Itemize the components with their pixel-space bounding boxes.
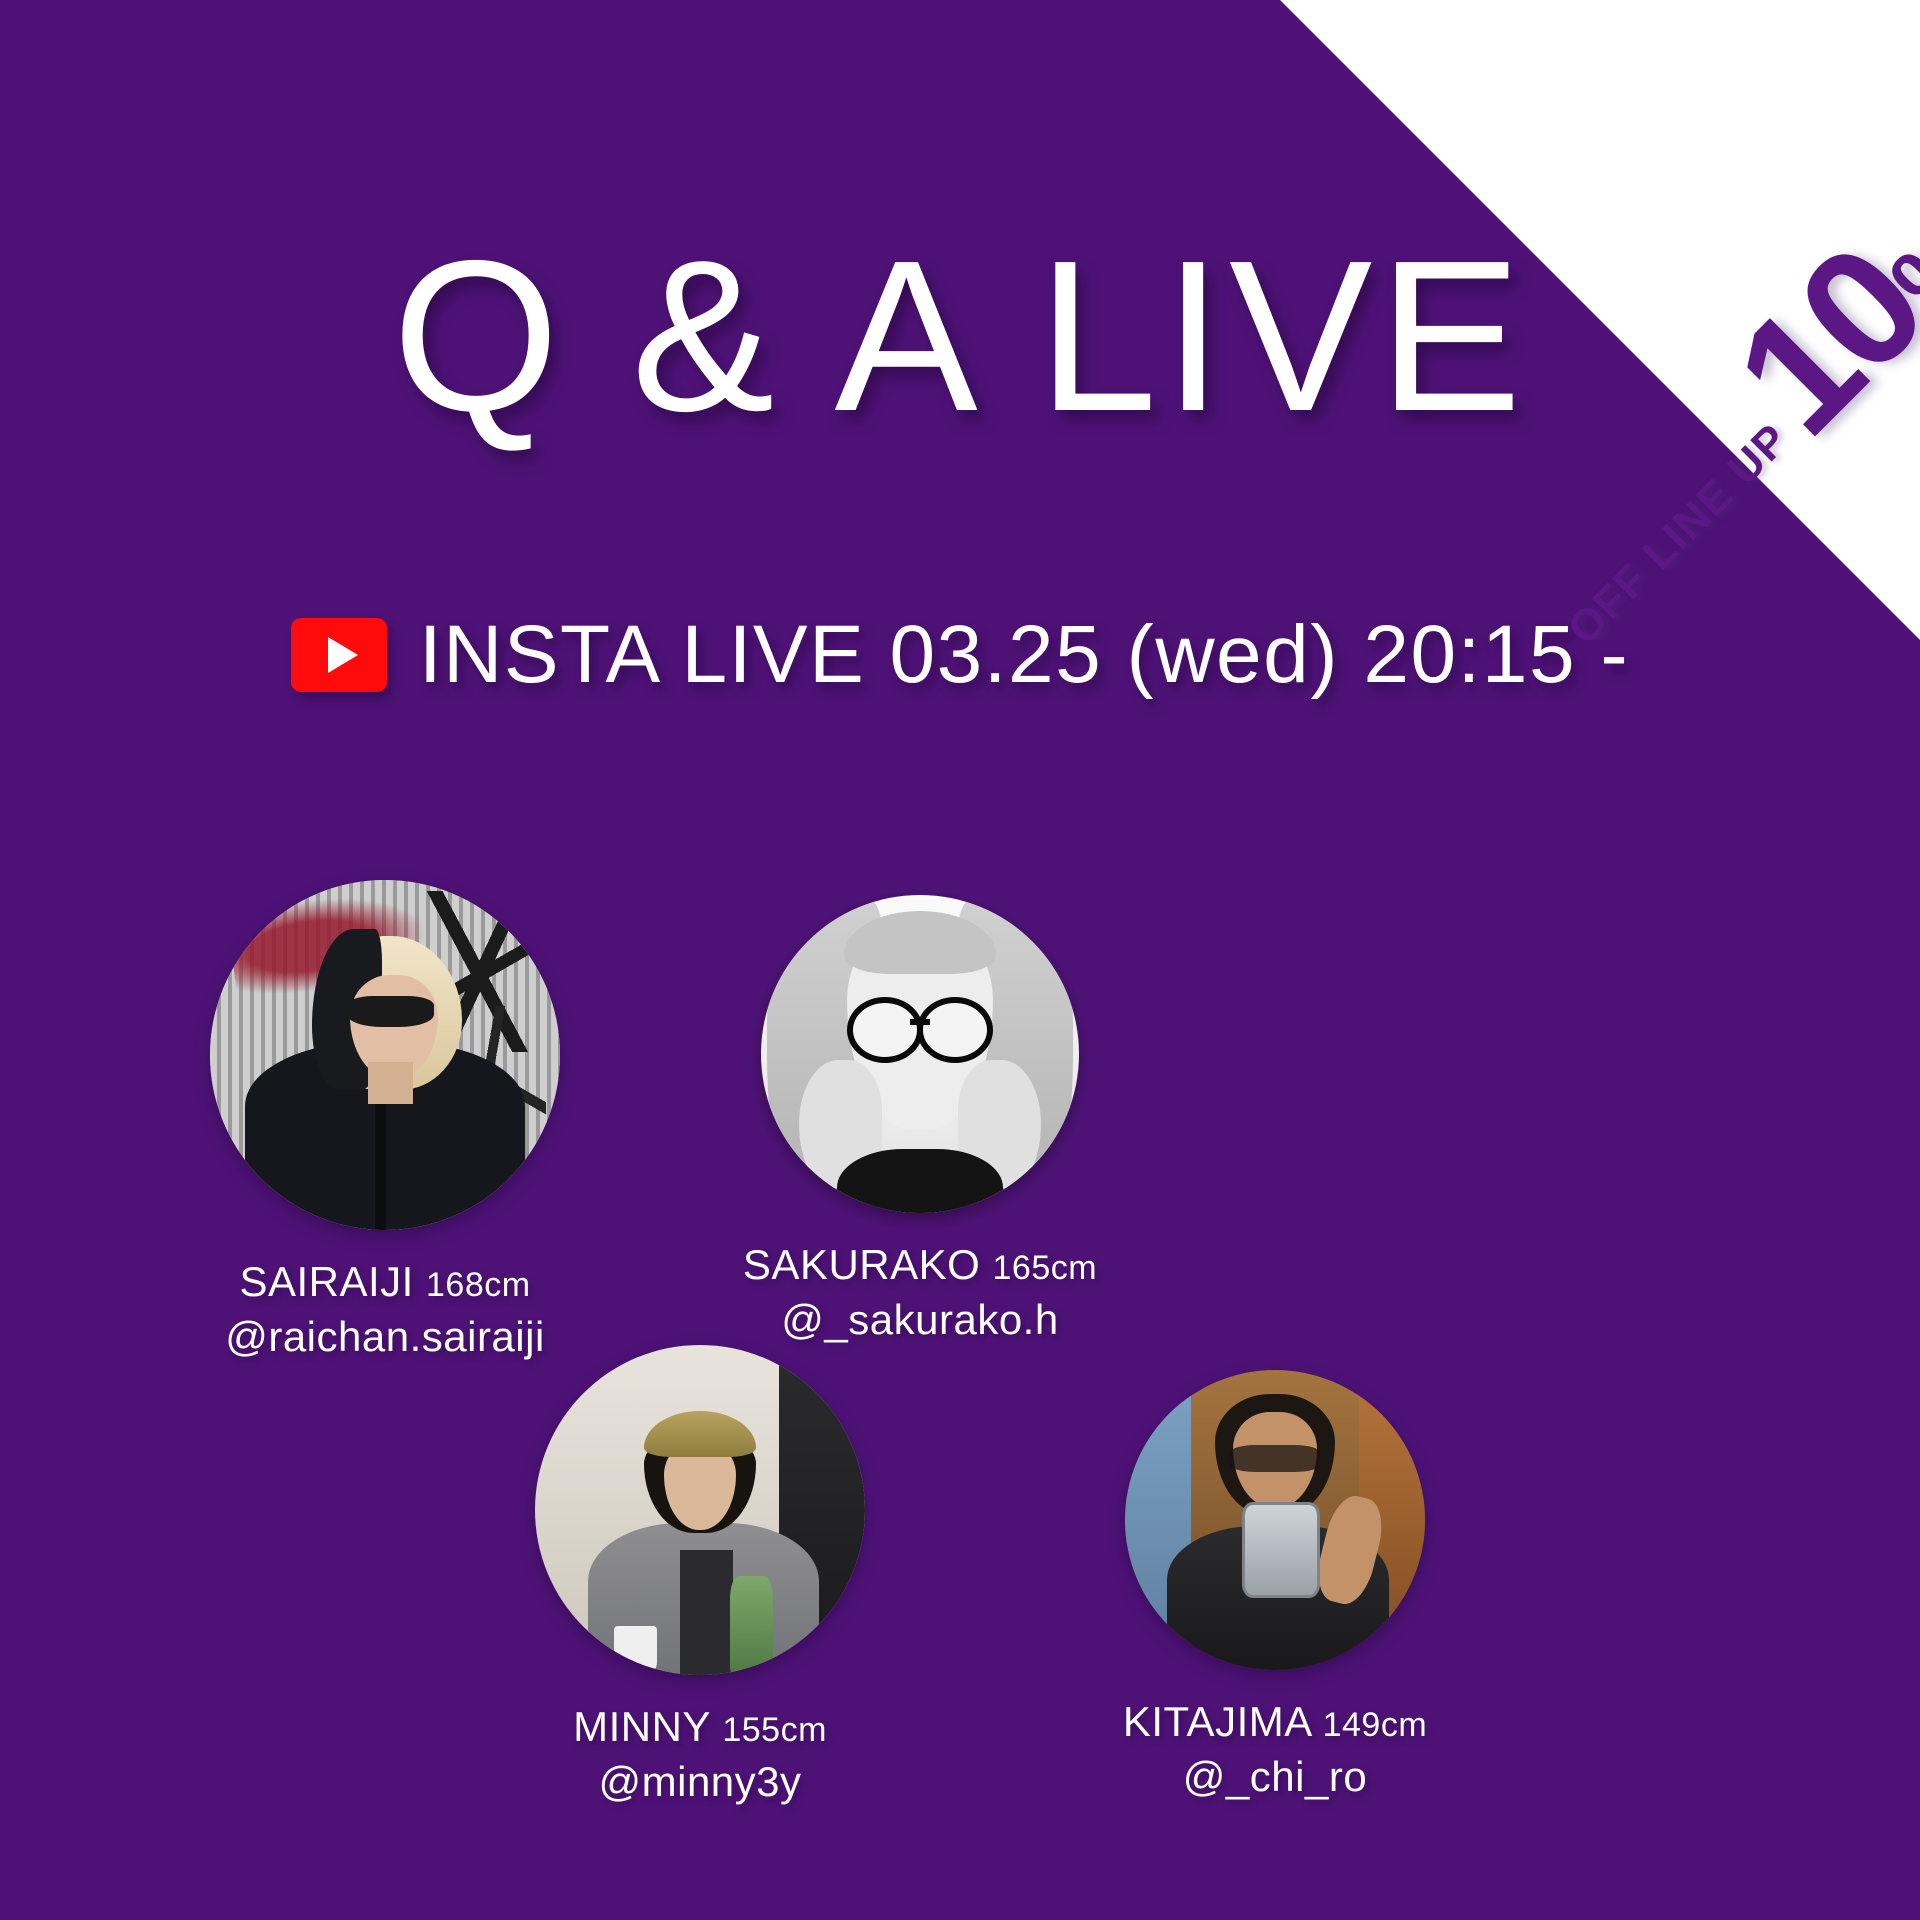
person-name-sakurako: SAKURAKO 165cm [705,1237,1135,1292]
person-name-text: KITAJIMA [1123,1698,1311,1745]
person-name-text: MINNY [573,1703,710,1750]
person-handle-kitajima: @_chi_ro [1060,1749,1490,1804]
person-height-text: 155cm [722,1711,827,1749]
badge-discount-value: 10% [1719,173,1920,452]
person-name-sairaiji: SAIRAIJI 168cm [170,1254,600,1309]
avatar-photo-minny [535,1345,865,1675]
avatar-photo-sairaiji [210,880,560,1230]
discount-corner-badge: OFF LINE UP 10% [1280,0,1920,640]
play-button-icon [291,618,387,692]
poster-canvas: OFF LINE UP 10% Q & A LIVE INSTA LIVE 03… [0,0,1920,1920]
person-height-text: 165cm [993,1249,1098,1287]
avatar-kitajima [1125,1370,1425,1670]
avatar-sakurako [761,895,1079,1213]
person-name-text: SAIRAIJI [239,1258,413,1305]
person-handle-minny: @minny3y [485,1754,915,1809]
person-label-kitajima: KITAJIMA 149cm @_chi_ro [1060,1694,1490,1805]
avatar-photo-kitajima [1125,1370,1425,1670]
avatar-minny [535,1345,865,1675]
person-height-text: 168cm [426,1266,531,1304]
person-name-minny: MINNY 155cm [485,1699,915,1754]
play-triangle-glyph [328,637,358,673]
person-label-sakurako: SAKURAKO 165cm @_sakurako.h [705,1237,1135,1348]
person-card-sairaiji: SAIRAIJI 168cm @raichan.sairaiji [170,880,600,1365]
person-card-minny: MINNY 155cm @minny3y [485,1345,915,1810]
avatar-photo-sakurako [761,895,1079,1213]
person-handle-sakurako: @_sakurako.h [705,1292,1135,1347]
person-name-text: SAKURAKO [743,1241,980,1288]
person-card-sakurako: SAKURAKO 165cm @_sakurako.h [705,895,1135,1348]
person-name-kitajima: KITAJIMA 149cm [1060,1694,1490,1749]
person-card-kitajima: KITAJIMA 149cm @_chi_ro [1060,1370,1490,1805]
person-label-minny: MINNY 155cm @minny3y [485,1699,915,1810]
avatar-sairaiji [210,880,560,1230]
person-height-text: 149cm [1323,1706,1428,1744]
